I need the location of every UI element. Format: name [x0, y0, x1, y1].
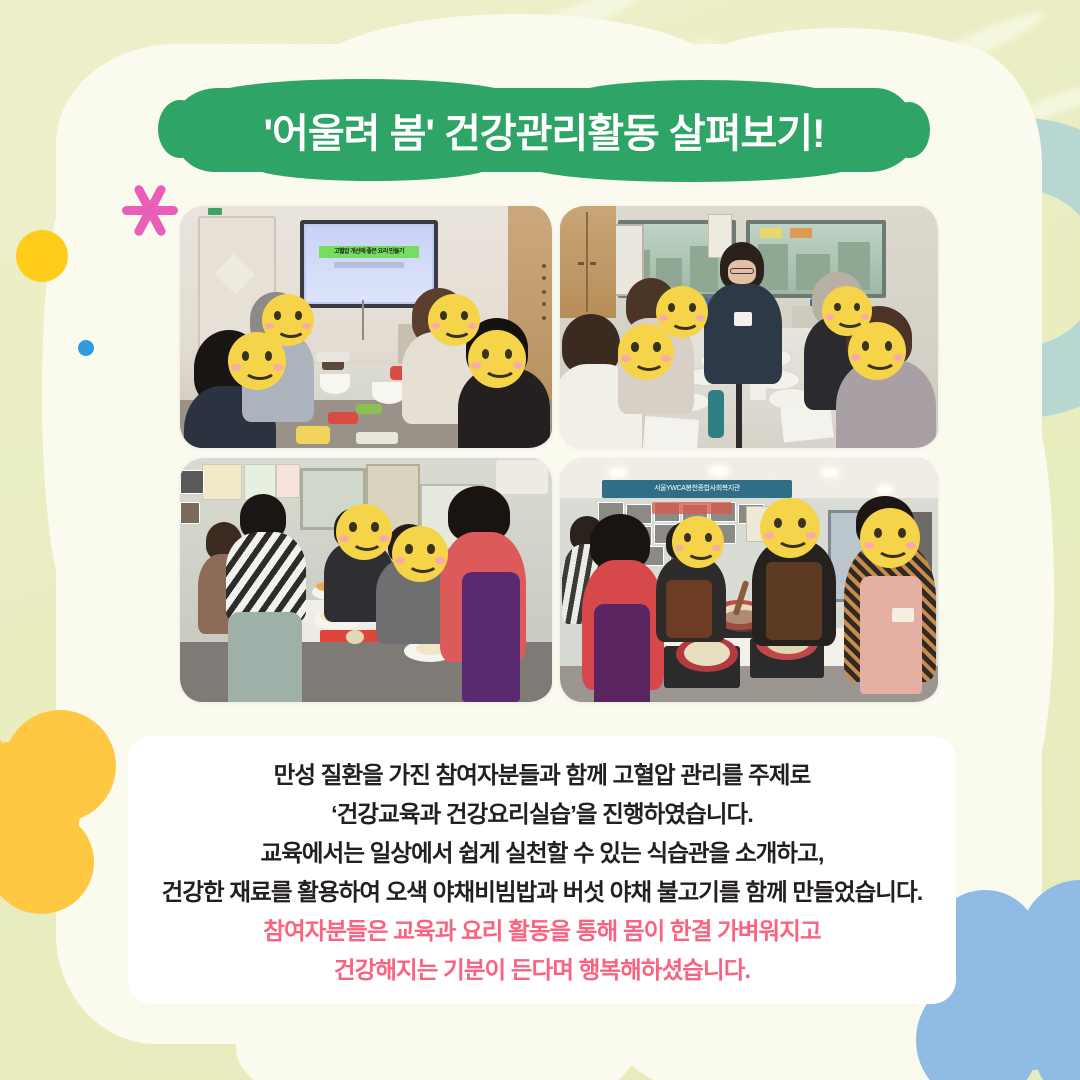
privacy-emoji-face	[392, 526, 448, 582]
blue-small-dot-icon	[78, 340, 94, 356]
privacy-emoji-face	[468, 330, 526, 388]
sparkle-asterisk-icon	[120, 180, 180, 240]
yellow-circle-icon	[16, 230, 68, 282]
description-lines: 만성 질환을 가진 참여자분들과 함께 고혈압 관리를 주제로 ‘건강교육과 건…	[128, 736, 956, 1004]
description-line: 교육에서는 일상에서 쉽게 실천할 수 있는 식습관을 소개하고,	[260, 836, 823, 870]
privacy-emoji-face	[262, 294, 314, 346]
description-line: ‘건강교육과 건강요리실습’을 진행하였습니다.	[331, 797, 753, 831]
photo-1-scene: 고혈압 개선에 좋은 요리 만들기	[180, 206, 552, 448]
privacy-emoji-face	[656, 286, 708, 338]
privacy-emoji-face	[760, 498, 820, 558]
poster-canvas: '어울려 봄' 건강관리활동 살펴보기! 고혈압 개선에 좋은 요리 만들기	[0, 0, 1080, 1080]
photo-4[interactable]: 서울YWCA봉천종합사회복지관	[560, 458, 938, 702]
orange-cloud-blob-icon	[0, 700, 140, 930]
slide-title: 고혈압 개선에 좋은 요리 만들기	[319, 246, 420, 258]
photo-1[interactable]: 고혈압 개선에 좋은 요리 만들기	[180, 206, 552, 448]
photo-grid: 고혈압 개선에 좋은 요리 만들기	[180, 206, 940, 706]
photo-4-scene: 서울YWCA봉천종합사회복지관	[560, 458, 938, 702]
description-card: 만성 질환을 가진 참여자분들과 함께 고혈압 관리를 주제로 ‘건강교육과 건…	[128, 736, 956, 1004]
presentation-screen: 고혈압 개선에 좋은 요리 만들기	[300, 220, 438, 308]
photo-2[interactable]	[560, 206, 938, 448]
blue-cloud-blob-icon	[940, 880, 1080, 1080]
facility-name: 서울YWCA봉천종합사회복지관	[602, 480, 792, 498]
description-line-highlight: 참여자분들은 교육과 요리 활동을 통해 몸이 한결 가벼워지고	[263, 914, 820, 948]
facility-banner: 서울YWCA봉천종합사회복지관	[602, 480, 792, 498]
photo-3-scene	[180, 458, 552, 702]
description-line: 건강한 재료를 활용하여 오색 야채비빔밥과 버섯 야채 불고기를 함께 만들었…	[162, 875, 923, 909]
privacy-emoji-face	[672, 516, 724, 568]
privacy-emoji-face	[428, 294, 480, 346]
description-line-highlight: 건강해지는 기분이 든다며 행복해하셨습니다.	[334, 953, 750, 987]
privacy-emoji-face	[336, 504, 392, 560]
page-title: '어울려 봄' 건강관리활동 살펴보기!	[172, 88, 916, 172]
privacy-emoji-face	[848, 322, 906, 380]
title-banner: '어울려 봄' 건강관리활동 살펴보기!	[172, 88, 916, 172]
privacy-emoji-face	[860, 508, 920, 568]
photo-2-scene	[560, 206, 938, 448]
photo-3[interactable]	[180, 458, 552, 702]
description-line: 만성 질환을 가진 참여자분들과 함께 고혈압 관리를 주제로	[274, 758, 811, 792]
